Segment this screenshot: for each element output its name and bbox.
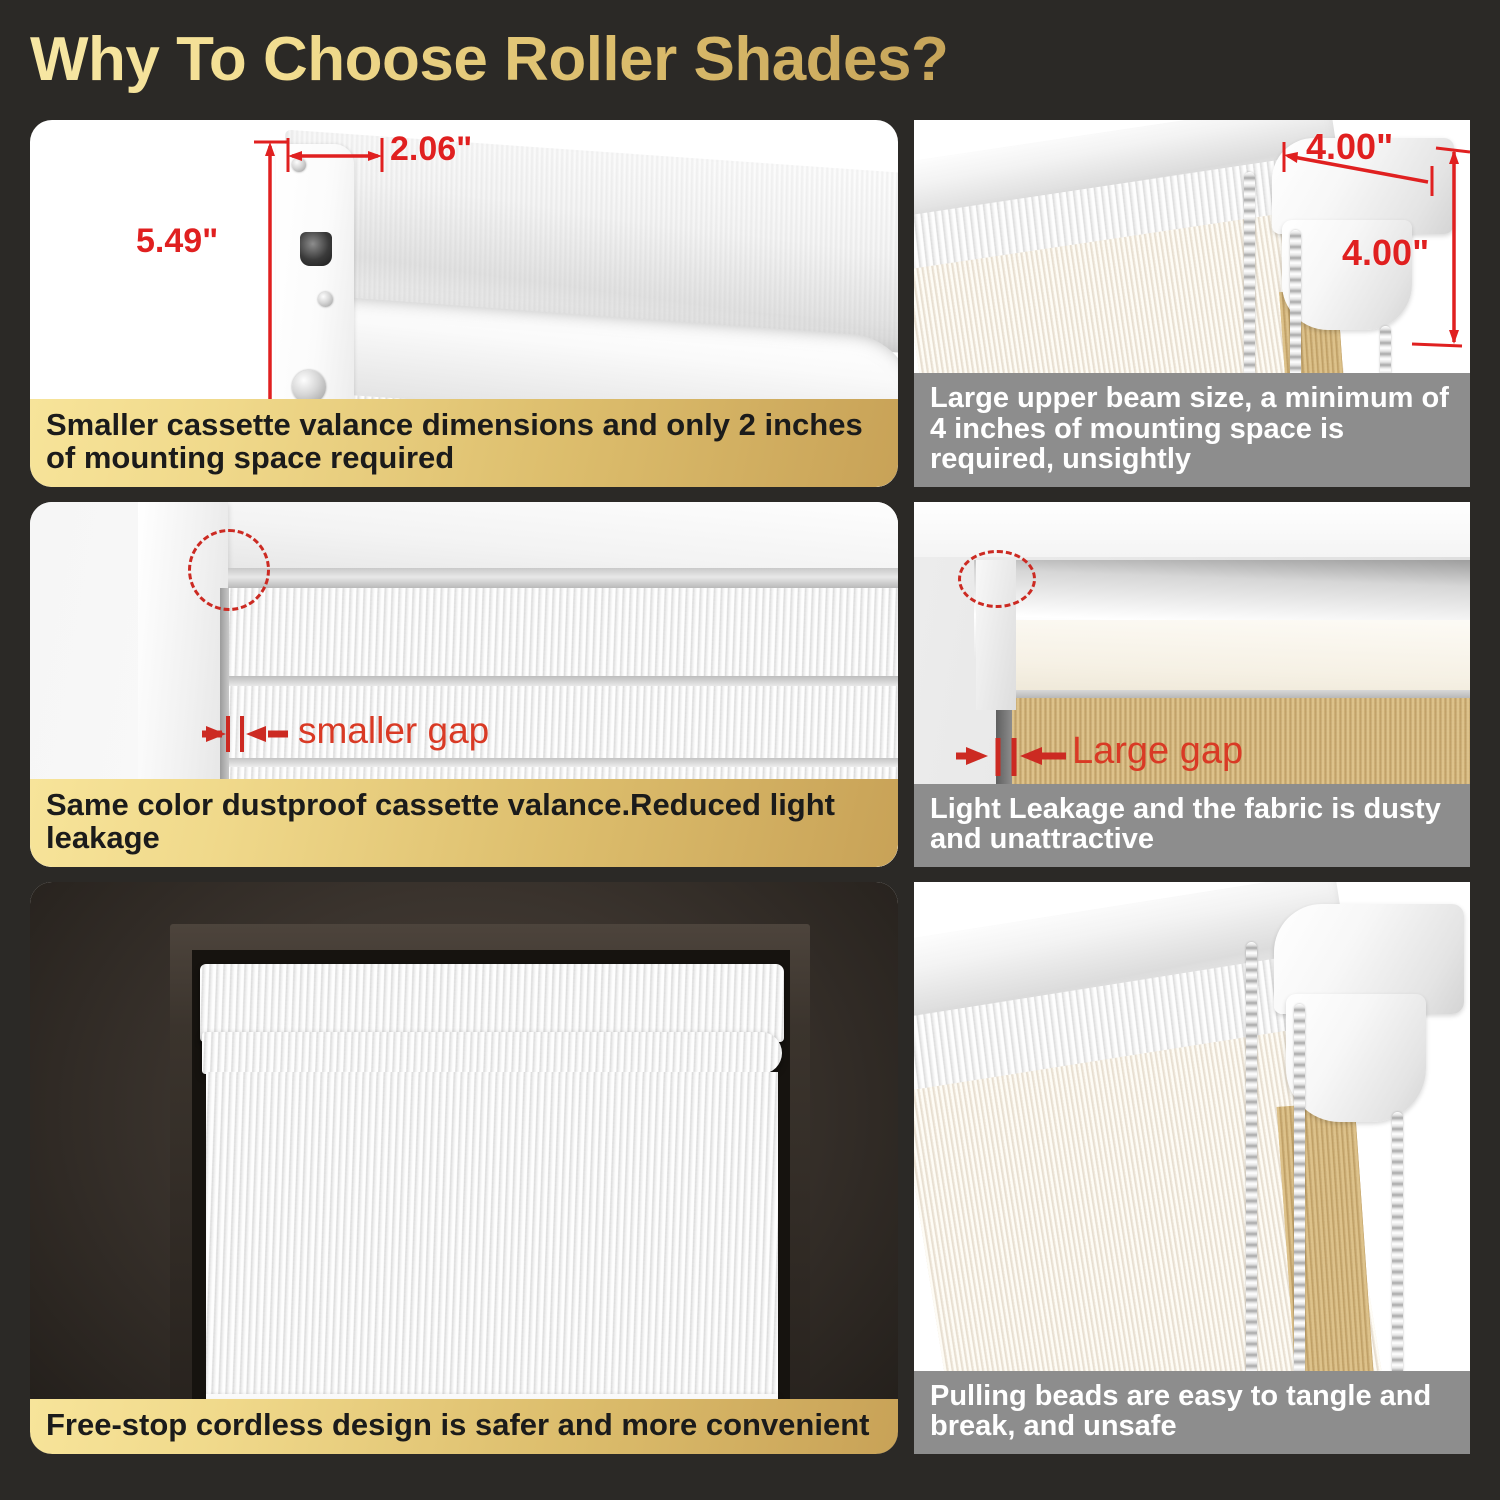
panel-large-upper-beam: 4.00" 4.00" Large upper beam size, a min… bbox=[914, 120, 1470, 487]
roller-shade-fabric bbox=[206, 1072, 778, 1402]
shade-band-1 bbox=[228, 588, 898, 676]
panel-5-photo: Free-stop cordless design is safer and m… bbox=[30, 882, 898, 1454]
end-cap-notch-icon bbox=[300, 232, 332, 266]
cassette-valance-lip bbox=[202, 1032, 782, 1074]
panel-large-gap: Large gap Light Leakage and the fabric i… bbox=[914, 502, 1470, 867]
dimension-label-width: 2.06" bbox=[390, 130, 472, 169]
panel-3-photo: smaller gap Same color dustproof cassett… bbox=[30, 502, 898, 867]
panel-2-photo: 4.00" 4.00" Large upper beam size, a min… bbox=[914, 120, 1470, 487]
ceiling-surface bbox=[914, 502, 1470, 557]
panel-4-photo: Large gap Light Leakage and the fabric i… bbox=[914, 502, 1470, 867]
gap-callout-label: Large gap bbox=[1072, 730, 1243, 773]
cassette-valance-top bbox=[200, 964, 784, 1042]
cassette-headrail bbox=[228, 568, 898, 588]
panel-6-caption: Pulling beads are easy to tangle and bre… bbox=[914, 1371, 1470, 1454]
panel-1-photo: 2.06" 5.49" Smaller cassette valance dim… bbox=[30, 120, 898, 487]
panel-5-caption: Free-stop cordless design is safer and m… bbox=[30, 1399, 898, 1454]
dimension-label-height: 4.00" bbox=[1342, 232, 1429, 274]
highlight-circle bbox=[188, 529, 270, 611]
panel-6-photo: Pulling beads are easy to tangle and bre… bbox=[914, 882, 1470, 1454]
panel-pulling-beads: Pulling beads are easy to tangle and bre… bbox=[914, 882, 1470, 1454]
roller-bracket-lower bbox=[1286, 994, 1426, 1122]
panel-grid: 2.06" 5.49" Smaller cassette valance dim… bbox=[0, 110, 1500, 1500]
highlight-circle bbox=[958, 550, 1036, 608]
page-title: Why To Choose Roller Shades? bbox=[30, 24, 948, 95]
panel-1-caption: Smaller cassette valance dimensions and … bbox=[30, 399, 898, 487]
panel-4-caption: Light Leakage and the fabric is dusty an… bbox=[914, 784, 1470, 867]
end-cap-screw-icon bbox=[318, 292, 333, 307]
bead-chain-middle bbox=[1294, 1004, 1305, 1424]
shade-band-gap-1 bbox=[228, 676, 898, 686]
title-bar: Why To Choose Roller Shades? bbox=[30, 18, 1470, 100]
gap-callout-label: smaller gap bbox=[298, 710, 489, 752]
end-cap-top-screw-icon bbox=[292, 158, 306, 172]
panel-cordless-design: Free-stop cordless design is safer and m… bbox=[30, 882, 898, 1454]
shade-band-gap-2 bbox=[228, 758, 898, 767]
panel-smaller-cassette: 2.06" 5.49" Smaller cassette valance dim… bbox=[30, 120, 898, 487]
bead-chain-left bbox=[1246, 942, 1257, 1422]
panel-3-caption: Same color dustproof cassette valance.Re… bbox=[30, 779, 898, 867]
dimension-label-height: 5.49" bbox=[136, 222, 218, 261]
panel-smaller-gap: smaller gap Same color dustproof cassett… bbox=[30, 502, 898, 867]
panel-2-caption: Large upper beam size, a minimum of 4 in… bbox=[914, 373, 1470, 487]
dimension-label-width: 4.00" bbox=[1306, 126, 1393, 168]
